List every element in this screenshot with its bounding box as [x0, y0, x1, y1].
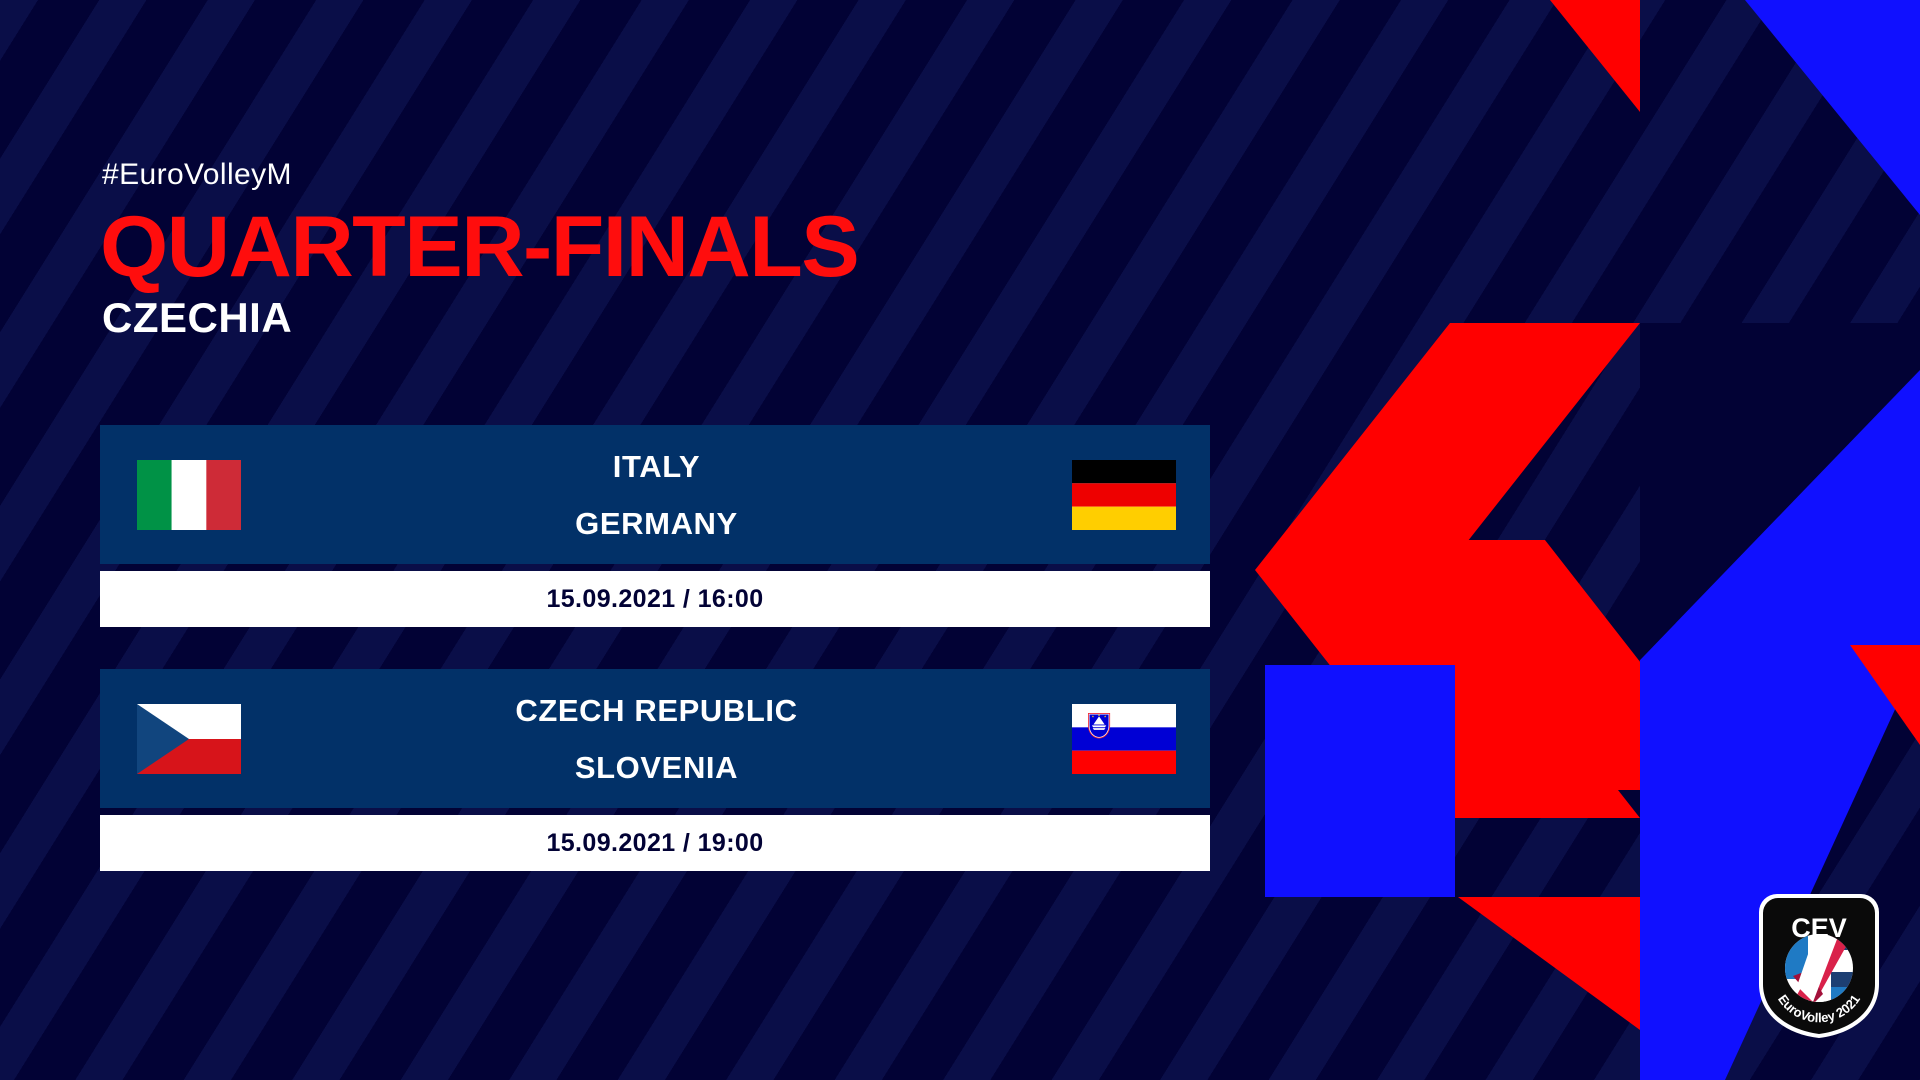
czech-republic-flag-icon [137, 704, 241, 774]
hashtag: #EuroVolleyM [102, 160, 1150, 190]
headline-block: #EuroVolleyM QUARTER-FINALS CZECHIA [100, 160, 1150, 339]
poster-canvas: #EuroVolleyM QUARTER-FINALS CZECHIA [0, 0, 1920, 1080]
team-names: ITALY GERMANY [367, 451, 946, 539]
slovenia-flag-icon [1072, 704, 1176, 774]
away-team-name: GERMANY [367, 508, 946, 539]
match-datetime: 15.09.2021 / 16:00 [546, 585, 763, 614]
away-flag-slot [946, 704, 1210, 774]
away-team-name: SLOVENIA [367, 752, 946, 783]
page-title: QUARTER-FINALS [100, 208, 1171, 287]
italy-flag-icon [137, 460, 241, 530]
match-teams-row: CZECH REPUBLIC SLOVENIA [100, 669, 1210, 808]
cev-eurovolley-logo: CEV EuroVolley 2021 [1753, 890, 1885, 1042]
logo-emblem [1785, 934, 1853, 1002]
shape-blue-square-lower [1265, 665, 1455, 897]
match-datetime: 15.09.2021 / 19:00 [546, 829, 763, 858]
match-card[interactable]: CZECH REPUBLIC SLOVENIA [100, 669, 1210, 871]
shape-red-triangle-top [1550, 0, 1640, 112]
team-names: CZECH REPUBLIC SLOVENIA [367, 695, 946, 783]
home-team-name: CZECH REPUBLIC [367, 695, 946, 726]
match-card[interactable]: ITALY GERMANY 15.09.2021 / 16:00 [100, 425, 1210, 627]
shape-red-triangle-lower [1458, 897, 1640, 1030]
match-date-bar: 15.09.2021 / 16:00 [100, 571, 1210, 627]
match-date-bar: 15.09.2021 / 19:00 [100, 815, 1210, 871]
home-flag-slot [100, 460, 367, 530]
match-teams-row: ITALY GERMANY [100, 425, 1210, 564]
germany-flag-icon [1072, 460, 1176, 530]
away-flag-slot [946, 460, 1210, 530]
page-subtitle: CZECHIA [102, 297, 1150, 339]
home-flag-slot [100, 704, 367, 774]
match-list: ITALY GERMANY 15.09.2021 / 16:00 [100, 425, 1210, 871]
home-team-name: ITALY [367, 451, 946, 482]
shape-blue-triangle-topright [1745, 0, 1920, 215]
